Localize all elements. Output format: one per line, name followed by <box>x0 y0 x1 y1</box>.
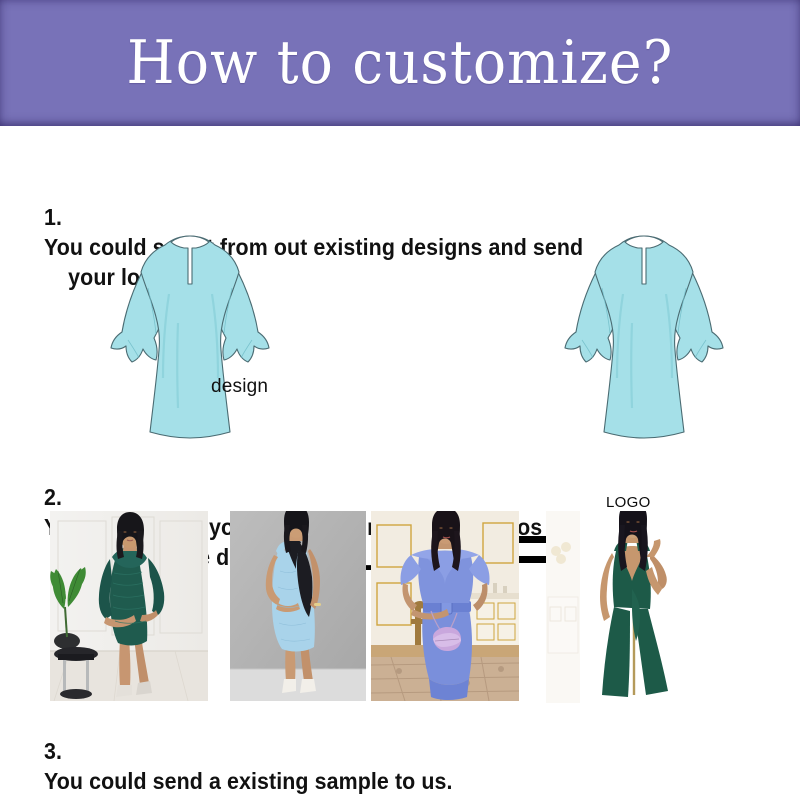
formula-row: + LOGO <box>0 228 800 440</box>
photo-green-jumpsuit <box>546 511 716 703</box>
page-title: How to customize? <box>126 33 673 93</box>
customization-infographic: How to customize? 1. You could select fr… <box>0 0 800 800</box>
design-label: design <box>211 376 268 398</box>
reference-photo-row <box>0 511 800 701</box>
step-2-number: 2. <box>44 484 62 510</box>
customized-dress-illustration <box>562 228 726 445</box>
base-design-dress-illustration <box>108 228 272 445</box>
step-3-text: 3. You could send a existing sample to u… <box>44 706 779 796</box>
photo-periwinkle-belted-dress <box>371 511 519 701</box>
step-3-number: 3. <box>44 738 62 764</box>
step-3-line1: You could send a existing sample to us. <box>44 768 453 794</box>
photo-green-midi-dress <box>50 511 208 701</box>
header-banner: How to customize? <box>0 0 800 126</box>
photo-blue-black-colorblock-dress <box>230 511 366 701</box>
step-1-number: 1. <box>44 204 62 230</box>
